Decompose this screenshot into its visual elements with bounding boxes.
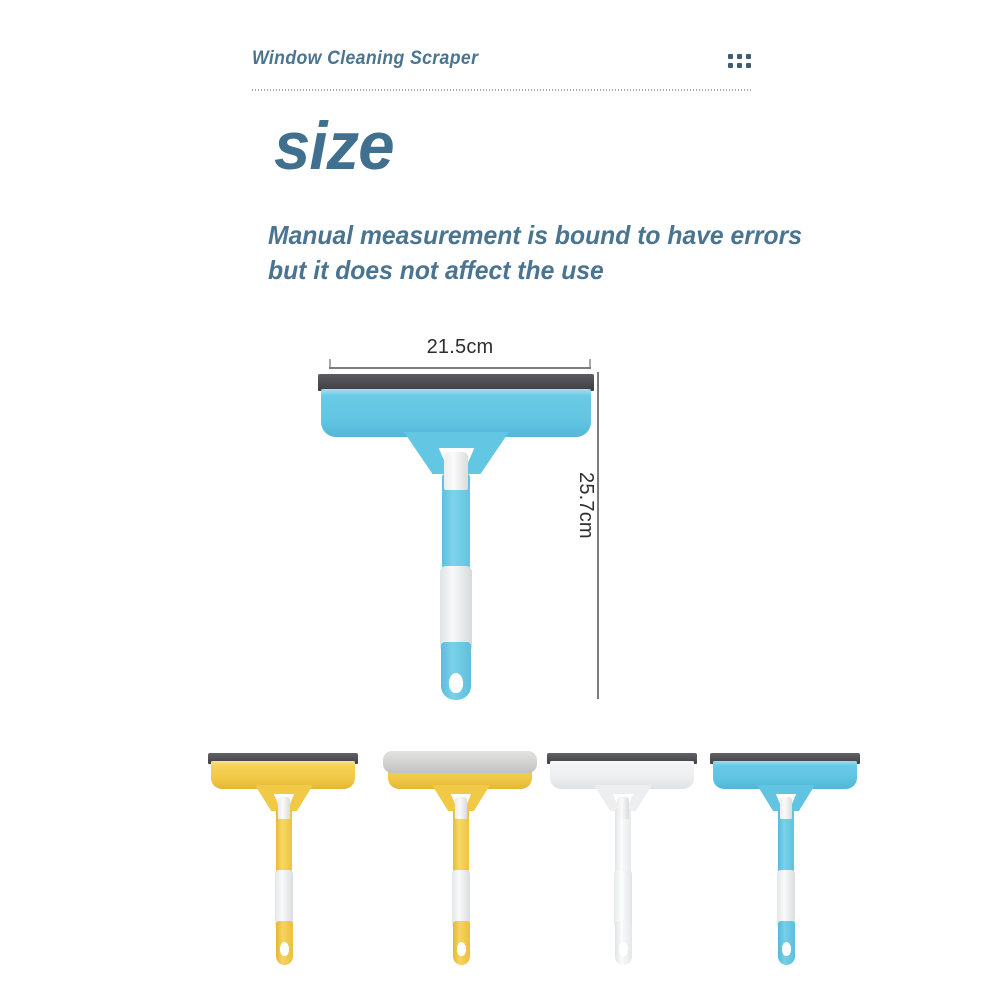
dimension-width-label: 21.5cm: [329, 336, 591, 359]
variant-bracket-top: [442, 785, 480, 794]
variant-hanging-hole: [782, 942, 791, 956]
product-hanging-hole: [449, 673, 463, 693]
grid-dot: [737, 63, 742, 68]
header-bar: Window Cleaning Scraper: [252, 48, 752, 92]
variant-connector-cap: [780, 797, 792, 819]
grid-dots-icon[interactable]: [728, 54, 751, 68]
variant-hanging-hole: [280, 942, 289, 956]
variant-handle-grip: [275, 870, 293, 928]
dimension-height-line: [597, 372, 599, 699]
variant-yellow-blade[interactable]: [198, 745, 368, 975]
variant-bracket-top: [604, 785, 642, 794]
grid-dot: [737, 54, 742, 59]
product-head: [321, 389, 591, 437]
variant-handle-grip: [614, 870, 632, 928]
header-divider: [252, 89, 752, 91]
page-title: Window Cleaning Scraper: [252, 48, 478, 70]
variant-bracket-top: [265, 785, 303, 794]
subtitle-line-2: but it does not affect the use: [268, 253, 857, 288]
grid-dot: [746, 54, 751, 59]
product-connector-cap: [444, 452, 468, 490]
variant-yellow-sponge[interactable]: [375, 745, 545, 975]
variant-sponge-pad: [383, 751, 537, 773]
grid-dot: [746, 63, 751, 68]
variant-hanging-hole: [457, 942, 466, 956]
infographic-page: Window Cleaning Scraper size Manual meas…: [0, 0, 1000, 1000]
variant-gallery: [0, 745, 1000, 975]
variant-handle-grip: [452, 870, 470, 928]
section-subtitle: Manual measurement is bound to have erro…: [268, 218, 857, 288]
product-bracket-top: [422, 432, 491, 448]
variant-connector-cap: [617, 797, 629, 819]
grid-dot: [728, 54, 733, 59]
product-handle-grip: [440, 566, 472, 652]
variant-connector-cap: [455, 797, 467, 819]
main-product-image: [318, 374, 594, 700]
subtitle-line-1: Manual measurement is bound to have erro…: [268, 218, 857, 253]
variant-handle-grip: [777, 870, 795, 928]
variant-white-blade[interactable]: [537, 745, 707, 975]
dimension-width-line: [329, 367, 591, 369]
section-heading: size: [274, 108, 394, 184]
variant-bracket-top: [767, 785, 805, 794]
variant-connector-cap: [278, 797, 290, 819]
variant-blue-blade[interactable]: [700, 745, 870, 975]
grid-dot: [728, 63, 733, 68]
variant-hanging-hole: [619, 942, 628, 956]
